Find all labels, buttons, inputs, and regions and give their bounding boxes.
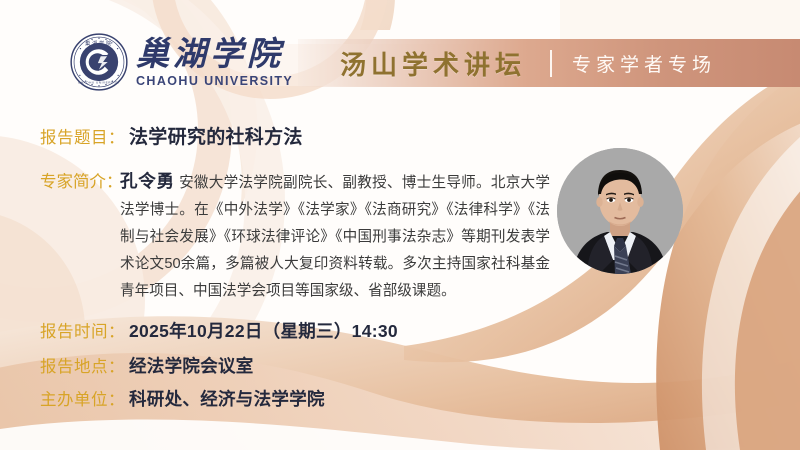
university-name-group: 巢湖学院 CHAOHU UNIVERSITY (136, 38, 293, 89)
banner-divider (550, 50, 552, 77)
report-time-value: 2025年10月22日（星期三）14:30 (129, 318, 398, 343)
speaker-bio-row: 专家简介： 孔令勇 安徽大学法学院副院长、副教授、博士生导师。北京大学法学博士。… (40, 168, 550, 305)
report-place-value: 经法学院会议室 (129, 353, 254, 378)
chaohu-university-seal-icon: 巢湖学院 CHAOHU UNIVERSITY (70, 33, 128, 91)
report-title-label: 报告题目： (40, 124, 125, 148)
lecture-series-banner: 汤山学术讲坛 专家学者专场 (298, 39, 800, 87)
decor-ribbon-right-inner (702, 120, 800, 450)
speaker-bio-text: 安徽大学法学院副院长、副教授、博士生导师。北京大学法学博士。在《中外法学》《法学… (120, 175, 550, 299)
university-name-en: CHAOHU UNIVERSITY (136, 74, 293, 88)
organizer-row: 主办单位： 科研处、经济与法学学院 (40, 386, 325, 411)
banner-subtitle: 专家学者专场 (572, 50, 716, 77)
report-title-value: 法学研究的社科方法 (129, 122, 303, 149)
speaker-bio-body: 孔令勇 安徽大学法学院副院长、副教授、博士生导师。北京大学法学博士。在《中外法学… (120, 168, 550, 305)
seminar-poster: 巢湖学院 CHAOHU UNIVERSITY 巢湖学院 CHAOHU UNIVE… (0, 0, 800, 450)
speaker-bio-label: 专家简介： (40, 168, 123, 192)
speaker-portrait (557, 148, 683, 274)
university-name-cn: 巢湖学院 (136, 38, 284, 73)
decor-ribbon-right-outer (656, 60, 800, 450)
speaker-name: 孔令勇 (120, 171, 175, 191)
report-time-label: 报告时间： (40, 318, 125, 342)
decor-fade-top-right (560, 0, 800, 40)
report-place-row: 报告地点： 经法学院会议室 (40, 353, 254, 378)
report-title-row: 报告题目： 法学研究的社科方法 (40, 122, 303, 149)
report-place-label: 报告地点： (40, 353, 125, 377)
organizer-value: 科研处、经济与法学学院 (129, 386, 325, 411)
decor-ribbon-right-accent (735, 170, 800, 450)
svg-text:CHAOHU UNIVERSITY: CHAOHU UNIVERSITY (78, 80, 120, 84)
university-logo-block: 巢湖学院 CHAOHU UNIVERSITY 巢湖学院 CHAOHU UNIVE… (70, 33, 293, 91)
banner-main-title: 汤山学术讲坛 (340, 45, 526, 82)
report-time-row: 报告时间： 2025年10月22日（星期三）14:30 (40, 318, 398, 343)
organizer-label: 主办单位： (40, 386, 125, 410)
decor-sliver-bottom (0, 420, 800, 450)
